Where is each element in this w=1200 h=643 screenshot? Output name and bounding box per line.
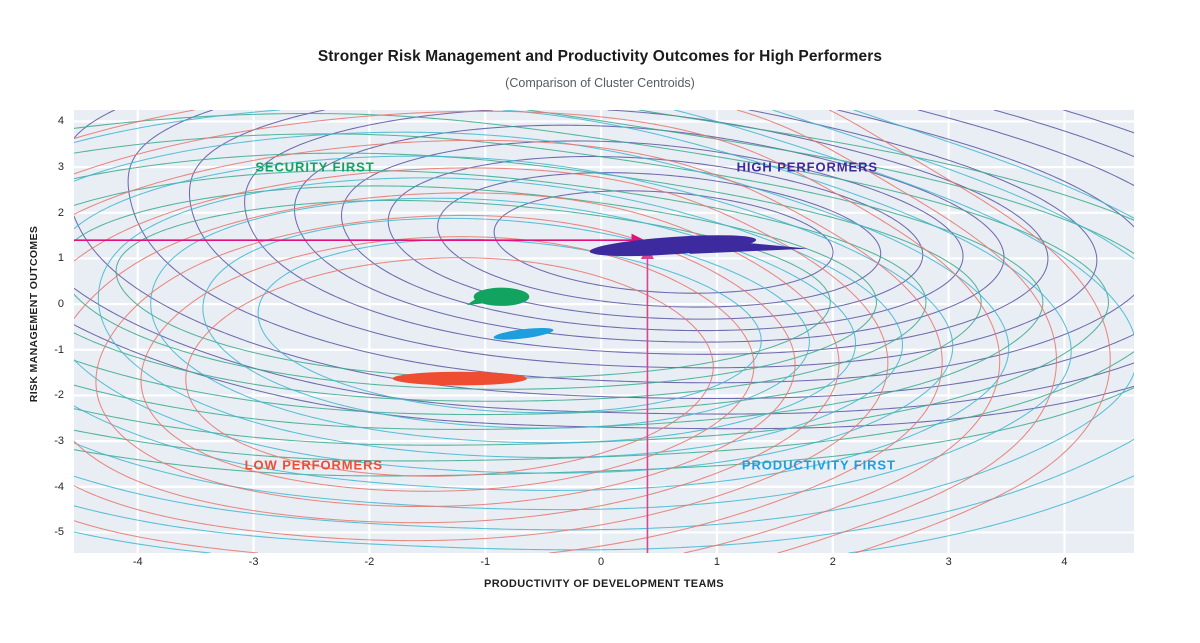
y-tick-label: -2 <box>54 389 64 401</box>
x-tick-label: -3 <box>249 556 259 568</box>
y-axis-title: RISK MANAGEMENT OUTCOMES <box>28 184 40 444</box>
x-tick-label: -1 <box>480 556 490 568</box>
cluster-label-high-performers: HIGH PERFORMERS <box>737 160 878 175</box>
x-tick-label: 4 <box>1061 556 1067 568</box>
cluster-label-productivity-first: PRODUCTIVITY FIRST <box>742 457 896 472</box>
x-tick-label: 2 <box>830 556 836 568</box>
x-tick-label: -2 <box>365 556 375 568</box>
y-tick-label: 0 <box>58 298 64 310</box>
y-tick-label: -3 <box>54 435 64 447</box>
x-tick-label: 3 <box>946 556 952 568</box>
x-axis-title: PRODUCTIVITY OF DEVELOPMENT TEAMS <box>74 578 1134 590</box>
y-tick-label: 3 <box>58 161 64 173</box>
chart-figure: Stronger Risk Management and Productivit… <box>0 0 1200 643</box>
x-tick-label: 0 <box>598 556 604 568</box>
y-tick-label: 2 <box>58 207 64 219</box>
plot-canvas <box>0 0 1200 643</box>
cluster-label-security-first: SECURITY FIRST <box>255 160 374 175</box>
y-tick-label: 1 <box>58 252 64 264</box>
cluster-label-low-performers: LOW PERFORMERS <box>245 457 383 472</box>
y-tick-label: -5 <box>54 526 64 538</box>
centroid-low-performers <box>393 372 527 386</box>
y-tick-label: 4 <box>58 115 64 127</box>
x-tick-label: 1 <box>714 556 720 568</box>
y-tick-label: -4 <box>54 481 64 493</box>
y-tick-label: -1 <box>54 344 64 356</box>
x-tick-label: -4 <box>133 556 143 568</box>
